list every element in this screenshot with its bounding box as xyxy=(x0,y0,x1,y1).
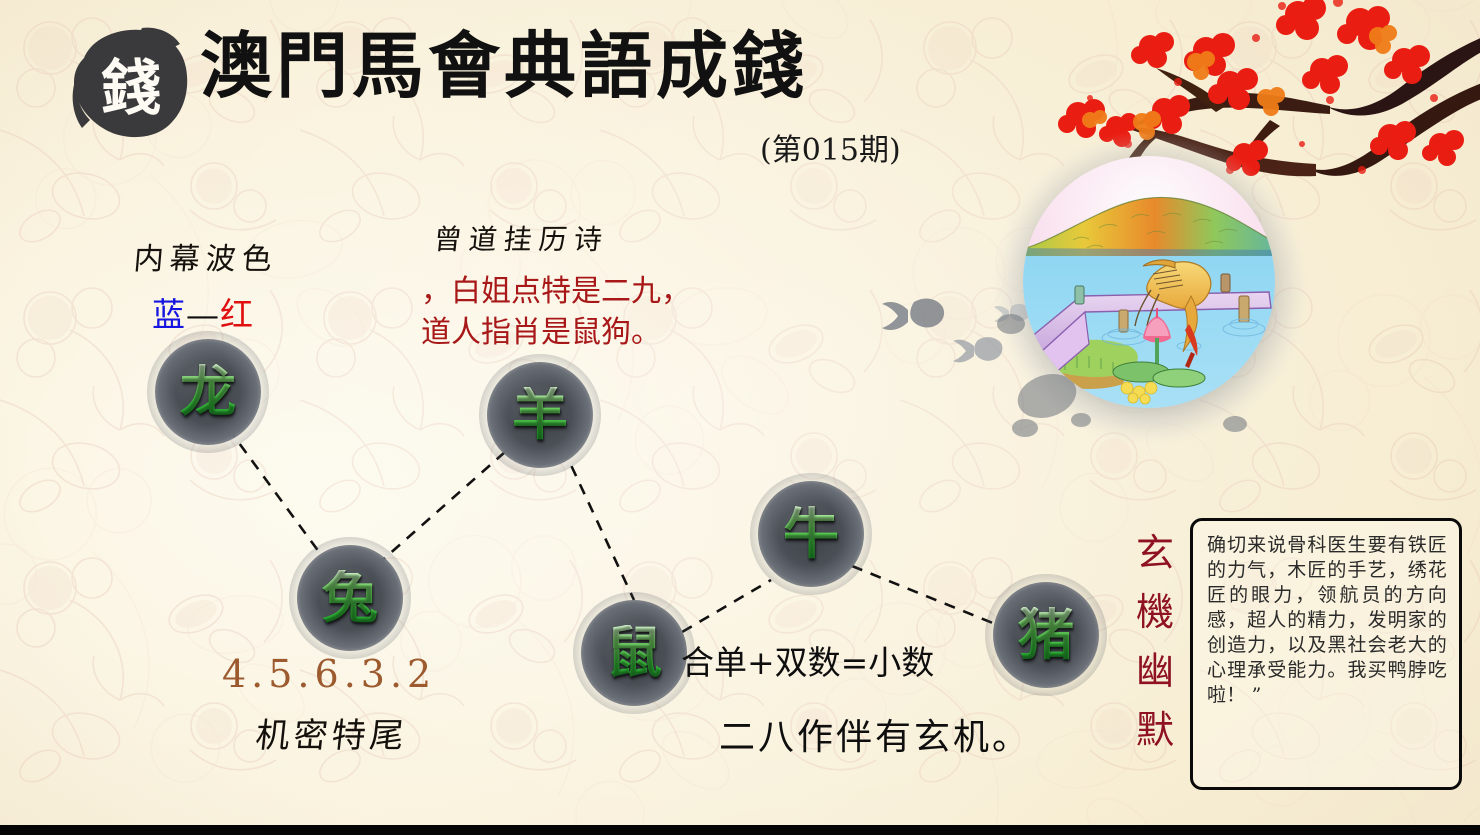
poster-canvas: 錢 澳門馬會典語成錢 (第015期) 内幕波色 蓝—红 曾道挂历诗 ，白姐点特是… xyxy=(0,0,1480,835)
zodiac-node-niu[interactable]: 牛 xyxy=(758,481,864,587)
zodiac-node-yang[interactable]: 羊 xyxy=(487,362,593,468)
zodiac-node-zhu[interactable]: 猪 xyxy=(993,582,1099,688)
poem-body: ，白姐点特是二九， 道人指肖是鼠狗。 xyxy=(421,272,691,353)
joke-text: 确切来说骨科医生要有铁匠的力气，木匠的手艺，绣花匠的眼力，领航员的方向感，超人的… xyxy=(1207,533,1447,709)
zodiac-node-tu[interactable]: 兔 xyxy=(297,545,403,651)
bose-dash: — xyxy=(186,295,220,334)
seal-character: 錢 xyxy=(68,24,190,140)
tail-numbers: 4.5.6.3.2 xyxy=(222,652,436,696)
zodiac-label-yang: 羊 xyxy=(512,387,568,443)
illustration-container xyxy=(985,128,1315,458)
zodiac-label-zhu: 猪 xyxy=(1018,607,1074,663)
poem-label: 曾道挂历诗 xyxy=(432,218,611,258)
formula-text: 合单+双数=小数 xyxy=(681,636,934,684)
zodiac-label-long: 龙 xyxy=(180,364,236,420)
bottom-border xyxy=(0,825,1480,835)
zodiac-node-long[interactable]: 龙 xyxy=(155,339,261,445)
bose-label: 内幕波色 xyxy=(132,234,280,278)
ink-wash-landscape-illustration xyxy=(1023,156,1275,408)
page-title: 澳門馬會典語成錢 xyxy=(200,28,808,104)
bose-blue: 蓝 xyxy=(152,295,186,334)
issue-number: (第015期) xyxy=(760,125,901,169)
zodiac-node-shu[interactable]: 鼠 xyxy=(581,600,687,706)
brand-seal: 錢 xyxy=(68,24,190,140)
tail-label: 机密特尾 xyxy=(253,708,410,757)
zodiac-label-niu: 牛 xyxy=(783,506,839,562)
zodiac-label-tu: 兔 xyxy=(322,570,378,626)
bose-red: 红 xyxy=(220,295,254,334)
poem-line-2: 道人指肖是鼠狗。 xyxy=(421,313,691,354)
zodiac-label-shu: 鼠 xyxy=(606,625,662,681)
tagline-text: 二八作伴有玄机。 xyxy=(719,708,1031,760)
xuanji-vertical-label: 玄 機 幽 默 xyxy=(1128,524,1182,760)
joke-box: 确切来说骨科医生要有铁匠的力气，木匠的手艺，绣花匠的眼力，领航员的方向感，超人的… xyxy=(1190,518,1462,790)
bose-value: 蓝—红 xyxy=(152,288,254,336)
poem-line-1: ，白姐点特是二九， xyxy=(421,272,691,313)
